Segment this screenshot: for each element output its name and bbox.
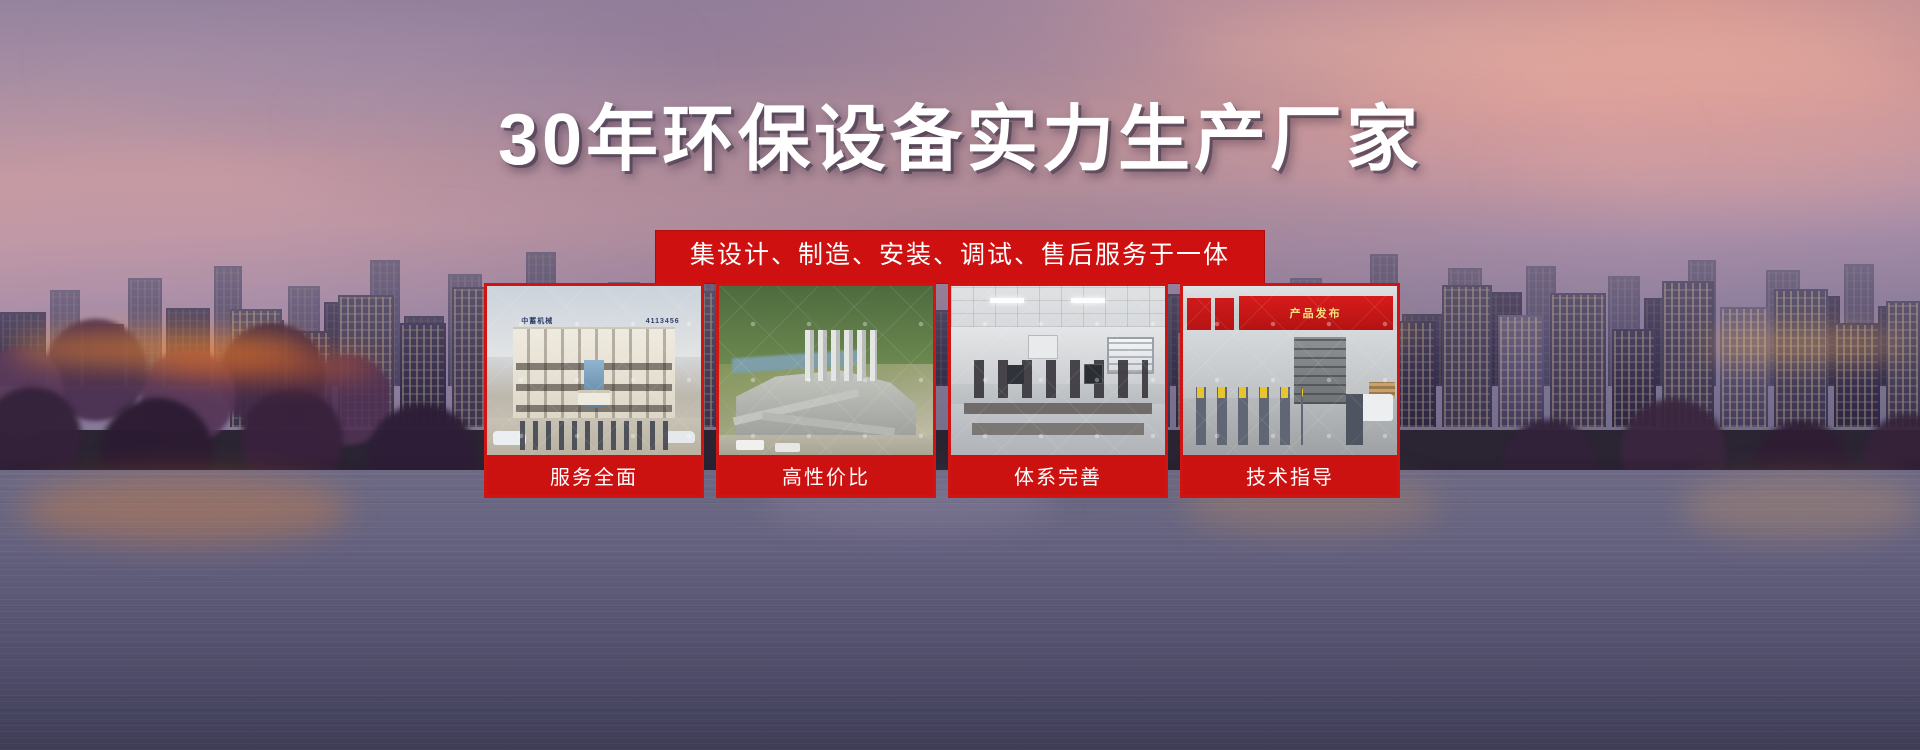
card-label: 服务全面 (487, 455, 701, 495)
feature-card[interactable]: 中蓄机械 4113456 服务全面 (484, 283, 704, 498)
banner-headline: 30年环保设备实力生产厂家 (0, 104, 1920, 176)
banner-subtitle-text: 集设计、制造、安装、调试、售后服务于一体 (690, 242, 1230, 270)
feature-card[interactable]: 高性价比 (716, 283, 936, 498)
card-photo-company-building: 中蓄机械 4113456 (487, 286, 701, 455)
card-photo-workshop-workers: 产品发布 (1183, 286, 1397, 455)
card-label: 体系完善 (951, 455, 1165, 495)
hero-banner: 30年环保设备实力生产厂家 集设计、制造、安装、调试、售后服务于一体 (0, 0, 1920, 750)
feature-card[interactable]: 体系完善 (948, 283, 1168, 498)
building-phone-text: 4113456 (598, 315, 679, 329)
banner-content: 30年环保设备实力生产厂家 集设计、制造、安装、调试、售后服务于一体 (0, 0, 1920, 750)
card-photo-office-interior (951, 286, 1165, 455)
workshop-banner-text: 产品发布 (1239, 296, 1393, 330)
building-sign-text: 中蓄机械 (521, 315, 598, 329)
card-photo-production-plant (719, 286, 933, 455)
feature-card[interactable]: 产品发布 技术指导 (1180, 283, 1400, 498)
card-label: 高性价比 (719, 455, 933, 495)
card-label: 技术指导 (1183, 455, 1397, 495)
banner-subtitle-bar: 集设计、制造、安装、调试、售后服务于一体 (655, 230, 1265, 284)
feature-card-row: 中蓄机械 4113456 服务全面 (484, 283, 1436, 498)
